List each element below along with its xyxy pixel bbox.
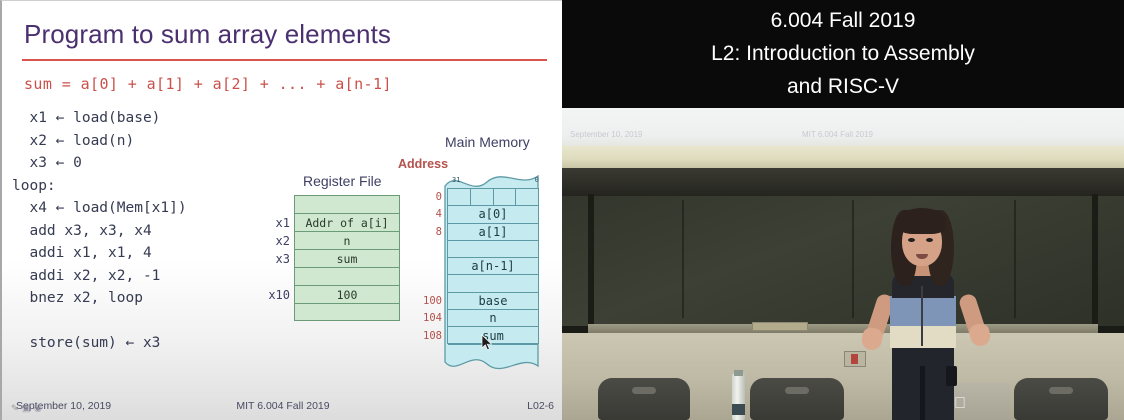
memory-row: 108sum: [448, 327, 538, 344]
lecturer-shirt-blue-band: [890, 296, 956, 326]
register-file-table: x1Addr of a[i]x2nx3sumx10100: [294, 195, 400, 321]
memory-row: 104n: [448, 310, 538, 327]
chair-handle: [632, 387, 656, 394]
chalk-ledge: [588, 324, 1098, 333]
lecture-topic-line-1: L2: Introduction to Assembly: [562, 37, 1124, 70]
video-panel[interactable]: 6.004 Fall 2019 L2: Introduction to Asse…: [562, 0, 1124, 420]
lecturer-hand-right: [968, 322, 992, 348]
page-title: Program to sum array elements: [24, 19, 391, 50]
lecturer-hand-left: [860, 326, 884, 352]
memory-row: [448, 345, 538, 362]
chalkboard-seam: [682, 200, 684, 318]
bottle-label: [732, 404, 745, 415]
projection-ghost-course: MIT 6.004 Fall 2019: [802, 130, 873, 139]
memory-address-100: 100: [423, 295, 448, 307]
chair-handle: [785, 387, 809, 394]
chalkboard-frame-left: [588, 194, 594, 330]
title-divider: [22, 59, 547, 61]
lecture-video-frame[interactable]: September 10, 2019 MIT 6.004 Fall 2019: [562, 108, 1124, 420]
register-row: x10100: [295, 286, 399, 304]
lecturer-eye-left: [908, 238, 915, 242]
register-row: [295, 196, 399, 214]
memory-value: n: [489, 311, 496, 325]
memory-row: 100base: [448, 293, 538, 310]
register-value: 100: [337, 288, 358, 302]
memory-row: 4a[0]: [448, 206, 538, 223]
register-row: [295, 304, 399, 322]
footer-course: MIT 6.004 Fall 2019: [236, 400, 329, 412]
memory-row: 0: [448, 189, 538, 206]
memory-value: base: [479, 294, 508, 308]
register-name-x3: x3: [276, 252, 295, 266]
register-row: x1Addr of a[i]: [295, 214, 399, 232]
lecturer-hair-top: [898, 208, 946, 234]
memory-byte-cell: [516, 189, 538, 205]
lecturer-shirt-cream-band: [890, 324, 956, 348]
sum-expression: sum = a[0] + a[1] + a[2] + ... + a[n-1]: [24, 75, 392, 93]
register-row: [295, 268, 399, 286]
overlay-controls-icon[interactable]: ✎ ▣ ◉: [11, 403, 42, 414]
memory-byte-cell: [448, 189, 471, 205]
ledge-plate: [752, 322, 808, 331]
chair-handle: [1049, 387, 1073, 394]
bit-index-low: 0: [535, 176, 539, 184]
register-file-title: Register File: [303, 173, 382, 189]
main-memory-title: Main Memory: [445, 134, 530, 150]
upper-board-shadow: [562, 168, 1124, 196]
lecture-title-header: 6.004 Fall 2019 L2: Introduction to Asse…: [562, 0, 1124, 108]
memory-row: [448, 241, 538, 258]
memory-byte-cell: [494, 189, 517, 205]
memory-address-4: 4: [436, 208, 448, 220]
chair: [1014, 378, 1108, 420]
memory-row: 8a[1]: [448, 224, 538, 241]
memory-address-104: 104: [423, 312, 448, 324]
memory-address-8: 8: [436, 226, 448, 238]
register-name-x1: x1: [276, 216, 295, 230]
chalkboard-seam: [1014, 200, 1016, 318]
chalkboard: [562, 196, 1124, 326]
lecturer-eye-right: [926, 238, 933, 242]
register-value: sum: [337, 252, 358, 266]
projection-screen: September 10, 2019 MIT 6.004 Fall 2019: [562, 108, 1124, 146]
memory-byte-cell: [471, 189, 494, 205]
memory-value: a[n-1]: [471, 259, 514, 273]
lecture-course-line: 6.004 Fall 2019: [562, 4, 1124, 37]
chair: [750, 378, 844, 420]
bottle-cap: [734, 370, 743, 376]
register-name-x2: x2: [276, 234, 295, 248]
bit-index-high: 31: [452, 176, 460, 184]
register-value: Addr of a[i]: [305, 216, 388, 230]
register-row: x2n: [295, 232, 399, 250]
screenshot-root: Program to sum array elements sum = a[0]…: [0, 0, 1124, 420]
outlet-switch: [851, 354, 858, 364]
register-value: n: [344, 234, 351, 248]
microphone-wire: [921, 286, 923, 346]
lecturer-figure: [858, 216, 998, 420]
lecturer-leg-seam: [920, 366, 925, 420]
memory-row: [448, 275, 538, 292]
lecturer-belt-pack: [946, 366, 957, 386]
chair: [598, 378, 690, 420]
memory-address-108: 108: [423, 330, 448, 342]
memory-value: a[0]: [479, 207, 508, 221]
main-memory-diagram: 31 0 04a[0]8a[1]a[n-1]100base104n108sum: [439, 166, 544, 384]
slide-footer: September 10, 2019 MIT 6.004 Fall 2019 L…: [2, 400, 562, 414]
register-name-x10: x10: [268, 288, 295, 302]
register-row: x3sum: [295, 250, 399, 268]
memory-row: a[n-1]: [448, 258, 538, 275]
chalkboard-frame-right: [1092, 194, 1098, 330]
footer-page-number: L02-6: [527, 400, 554, 412]
assembly-code-block: x1 ← load(base) x2 ← load(n) x3 ← 0 loop…: [12, 107, 187, 355]
slide-panel: Program to sum array elements sum = a[0]…: [0, 0, 562, 420]
memory-table: 04a[0]8a[1]a[n-1]100base104n108sum: [447, 188, 539, 344]
wall-band: [562, 146, 1124, 168]
chalkboard-seam: [852, 200, 854, 318]
mouse-cursor-icon: [481, 334, 493, 351]
memory-address-0: 0: [436, 191, 448, 203]
lecture-topic-line-2: and RISC-V: [562, 70, 1124, 103]
memory-value: a[1]: [479, 225, 508, 239]
projection-ghost-date: September 10, 2019: [570, 130, 990, 139]
